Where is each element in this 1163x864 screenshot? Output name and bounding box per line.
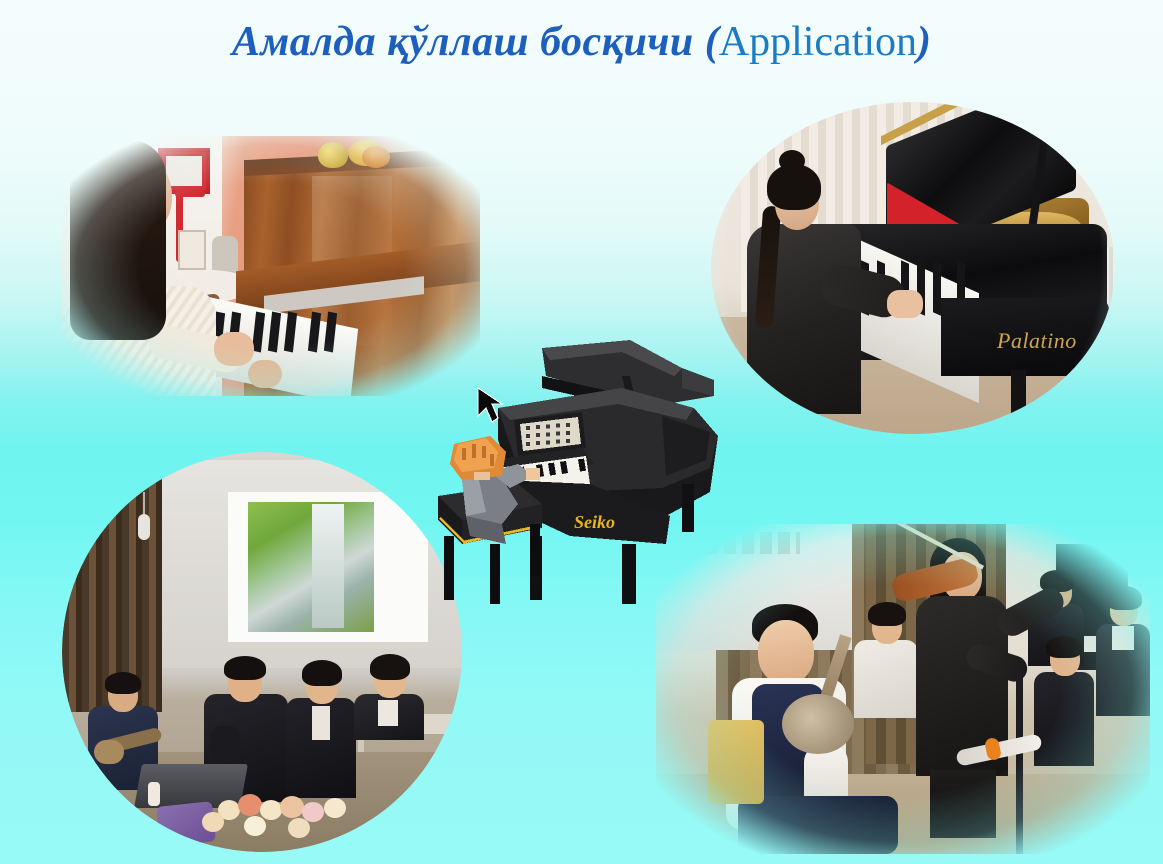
page-title-english: Application (719, 19, 917, 65)
slide-canvas: Амалда қўллаш босқичи (Application) (0, 0, 1163, 864)
page-title-paren-open: ( (705, 19, 719, 65)
page-title-cyrillic: Амалда қўллаш босқичи (232, 19, 694, 65)
piano-brand-label: Palatino (997, 328, 1077, 354)
pixel-art-pianist-sprite: Seiko (430, 336, 730, 618)
page-title: Амалда қўллаш босқичи (Application) (0, 18, 1163, 66)
photo-grand-piano-student: Palatino (711, 102, 1115, 434)
photo-upright-piano-student (62, 136, 480, 396)
page-title-paren-close: ) (917, 19, 931, 65)
photo-stage-ensemble (62, 452, 462, 852)
photo-violin-dutar-performance (656, 524, 1150, 854)
sprite-piano-brand: Seiko (574, 512, 615, 532)
pixel-piano-svg: Seiko (430, 336, 730, 618)
